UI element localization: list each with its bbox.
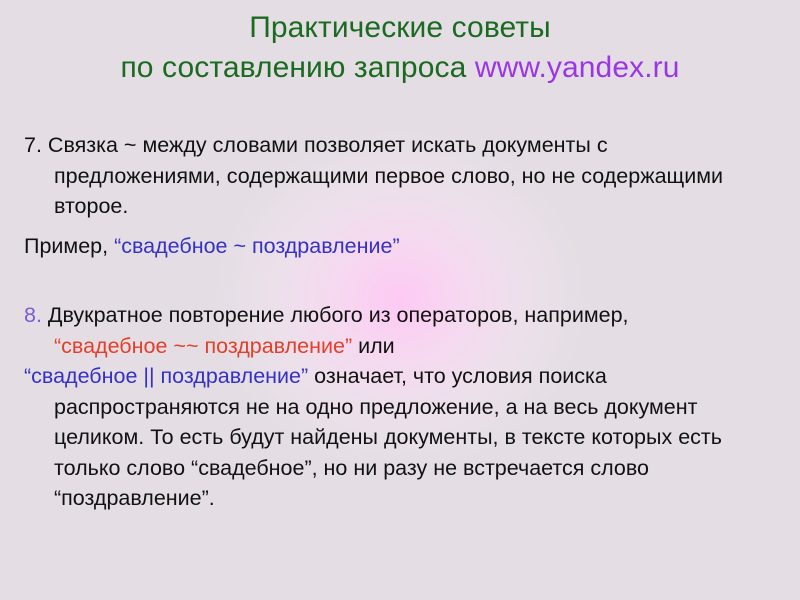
title-line-2: по составлению запроса www.yandex.ru xyxy=(40,48,760,88)
list-item-7: 7. Связка ~ между словами позволяет иска… xyxy=(24,130,724,222)
item-8-word-svadebnoe: “свадебное” xyxy=(191,456,312,480)
slide-body: 7. Связка ~ между словами позволяет иска… xyxy=(24,130,724,514)
yandex-url-link[interactable]: www.yandex.ru xyxy=(475,51,680,84)
item-7-text: Связка ~ между словами позволяет искать … xyxy=(42,133,723,218)
item-8-query-double-pipe: “свадебное || поздравление” xyxy=(24,364,308,388)
title-line-1: Практические советы xyxy=(40,8,760,48)
item-8-text-intro: Двукратное повторение любого из оператор… xyxy=(42,303,629,327)
slide-title: Практические советы по составлению запро… xyxy=(40,8,760,88)
list-item-8: 8. Двукратное повторение любого из опера… xyxy=(24,300,724,361)
item-8-text-middle: , но ни разу не встречается слово xyxy=(312,456,649,480)
item-8-word-pozdravlenie: “поздравление” xyxy=(54,486,209,510)
slide-content: Практические советы по составлению запро… xyxy=(0,0,800,600)
item-8-continuation: “свадебное || поздравление” означает, чт… xyxy=(24,361,724,514)
item-8-text-or: или xyxy=(352,334,395,358)
item-8-text-end: . xyxy=(209,486,215,510)
item-8-query-double-tilde: “свадебное ~~ поздравление” xyxy=(54,334,352,358)
spacer-small xyxy=(24,222,724,231)
item-7-example: Пример, “свадебное ~ поздравление” xyxy=(24,231,724,262)
item-7-example-query: “свадебное ~ поздравление” xyxy=(114,234,400,258)
title-line-2-text: по составлению запроса xyxy=(120,51,474,84)
spacer-large xyxy=(24,261,724,300)
slide-canvas: Практические советы по составлению запро… xyxy=(0,0,800,600)
item-7-number: 7. xyxy=(24,133,42,157)
item-8-number: 8. xyxy=(24,303,42,327)
item-7-example-label: Пример, xyxy=(24,234,114,258)
